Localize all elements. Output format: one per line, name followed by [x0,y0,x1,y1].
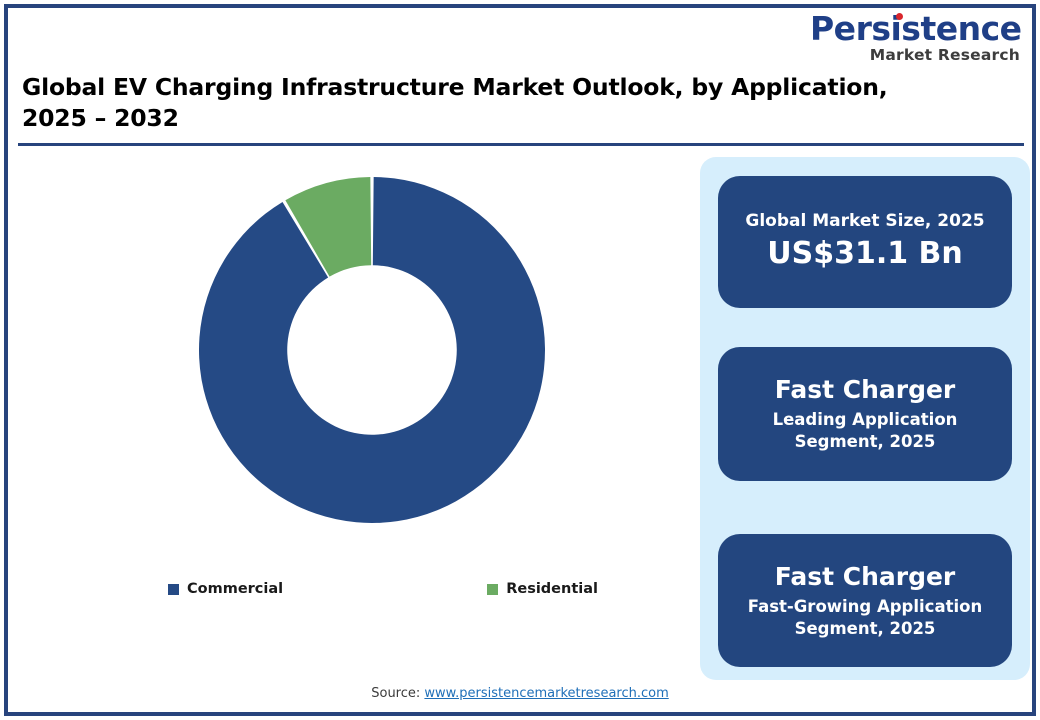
market-size-label: Global Market Size, 2025 [745,211,984,233]
legend-item-commercial[interactable]: Commercial [168,581,283,597]
fast-growing-segment-desc-line2: Segment, 2025 [795,618,936,640]
title-divider [18,143,1024,146]
source-label: Source: [371,686,420,701]
frame-border-top [4,4,1036,8]
leading-segment-desc-line2: Segment, 2025 [795,431,936,453]
frame-border-bottom [4,712,1036,716]
donut-chart-svg [199,177,545,523]
legend-item-residential[interactable]: Residential [487,581,598,597]
fast-growing-segment-desc-line1: Fast-Growing Application [748,596,982,618]
page-title: Global EV Charging Infrastructure Market… [22,72,922,134]
source-line: Source: www.persistencemarketresearch.co… [0,686,1040,701]
leading-segment-desc-line1: Leading Application [773,409,958,431]
market-size-value: US$31.1 Bn [767,235,963,273]
source-url-link[interactable]: www.persistencemarketresearch.com [424,686,668,701]
stat-card-market-size[interactable]: Global Market Size, 2025 US$31.1 Bn [718,176,1012,308]
donut-slice-commercial[interactable] [199,177,545,523]
brand-name: Persistence [810,12,1022,45]
stats-panel: Global Market Size, 2025 US$31.1 Bn Fast… [700,157,1030,680]
donut-chart-area: Commercial Residential [18,155,678,655]
chart-legend: Commercial Residential [168,581,598,597]
fast-growing-segment-name: Fast Charger [775,562,956,592]
leading-segment-name: Fast Charger [775,375,956,405]
brand-tagline: Market Research [810,48,1020,64]
donut-chart [199,177,545,523]
legend-label-residential: Residential [506,581,598,597]
brand-name-text: Persistence [810,9,1022,48]
stat-card-fast-growing-segment[interactable]: Fast Charger Fast-Growing Application Se… [718,534,1012,667]
frame-border-left [4,4,8,716]
frame-border-right [1032,4,1036,716]
infographic-page: Persistence Market Research Global EV Ch… [0,0,1040,720]
legend-swatch-residential-icon [487,584,498,595]
logo-dot-icon [896,13,903,20]
legend-label-commercial: Commercial [187,581,283,597]
legend-swatch-commercial-icon [168,584,179,595]
stat-card-leading-segment[interactable]: Fast Charger Leading Application Segment… [718,347,1012,481]
brand-logo: Persistence Market Research [810,12,1020,64]
